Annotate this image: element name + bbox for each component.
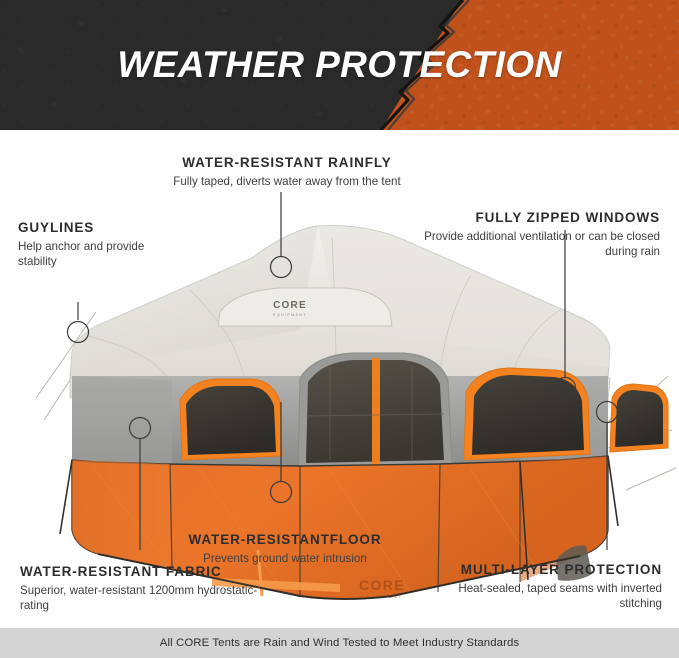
- tent-body-left-panel: [72, 460, 170, 568]
- callout-windows: FULLY ZIPPED WINDOWS Provide additional …: [424, 210, 660, 259]
- callout-rainfly: WATER-RESISTANT RAINFLY Fully taped, div…: [152, 155, 422, 189]
- footer-text: All CORE Tents are Rain and Wind Tested …: [160, 637, 519, 649]
- callout-fabric-desc: Superior, water-resistant 1200mm hydrost…: [20, 583, 270, 614]
- window-far-right-mesh: [615, 390, 663, 447]
- callout-floor: WATER-RESISTANTFLOOR Prevents ground wat…: [170, 532, 400, 566]
- footer-bar: All CORE Tents are Rain and Wind Tested …: [0, 628, 679, 658]
- page-title: WEATHER PROTECTION: [0, 0, 679, 130]
- callout-guylines-desc: Help anchor and provide stability: [18, 239, 168, 270]
- callout-windows-desc: Provide additional ventilation or can be…: [424, 229, 660, 260]
- roof-brand-logo: CORE: [273, 300, 307, 311]
- callout-multilayer-title: MULTI-LAYER PROTECTION: [424, 562, 662, 579]
- header-banner: WEATHER PROTECTION: [0, 0, 679, 130]
- callout-rainfly-desc: Fully taped, diverts water away from the…: [152, 174, 422, 189]
- window-left-mesh: [186, 386, 276, 455]
- callout-multilayer-desc: Heat-sealed, taped seams with inverted s…: [424, 581, 662, 612]
- callout-guylines-title: GUYLINES: [18, 220, 168, 237]
- center-door-zipper: [372, 358, 380, 466]
- callout-guylines: GUYLINES Help anchor and provide stabili…: [18, 220, 168, 269]
- roof-brand-tagline: EQUIPMENT: [273, 313, 307, 317]
- callout-rainfly-title: WATER-RESISTANT RAINFLY: [152, 155, 422, 172]
- callout-floor-desc: Prevents ground water intrusion: [170, 551, 400, 566]
- callout-multilayer: MULTI-LAYER PROTECTION Heat-sealed, tape…: [424, 562, 662, 611]
- window-right-mesh: [472, 375, 584, 455]
- callout-fabric: WATER-RESISTANT FABRIC Superior, water-r…: [20, 564, 270, 613]
- callout-windows-title: FULLY ZIPPED WINDOWS: [424, 210, 660, 227]
- callout-fabric-title: WATER-RESISTANT FABRIC: [20, 564, 270, 581]
- tent-left-wall-shade: [72, 376, 172, 466]
- body-brand-logo: CORE: [359, 577, 405, 593]
- infographic-root: WEATHER PROTECTION: [0, 0, 679, 658]
- callout-floor-title: WATER-RESISTANTFLOOR: [170, 532, 400, 549]
